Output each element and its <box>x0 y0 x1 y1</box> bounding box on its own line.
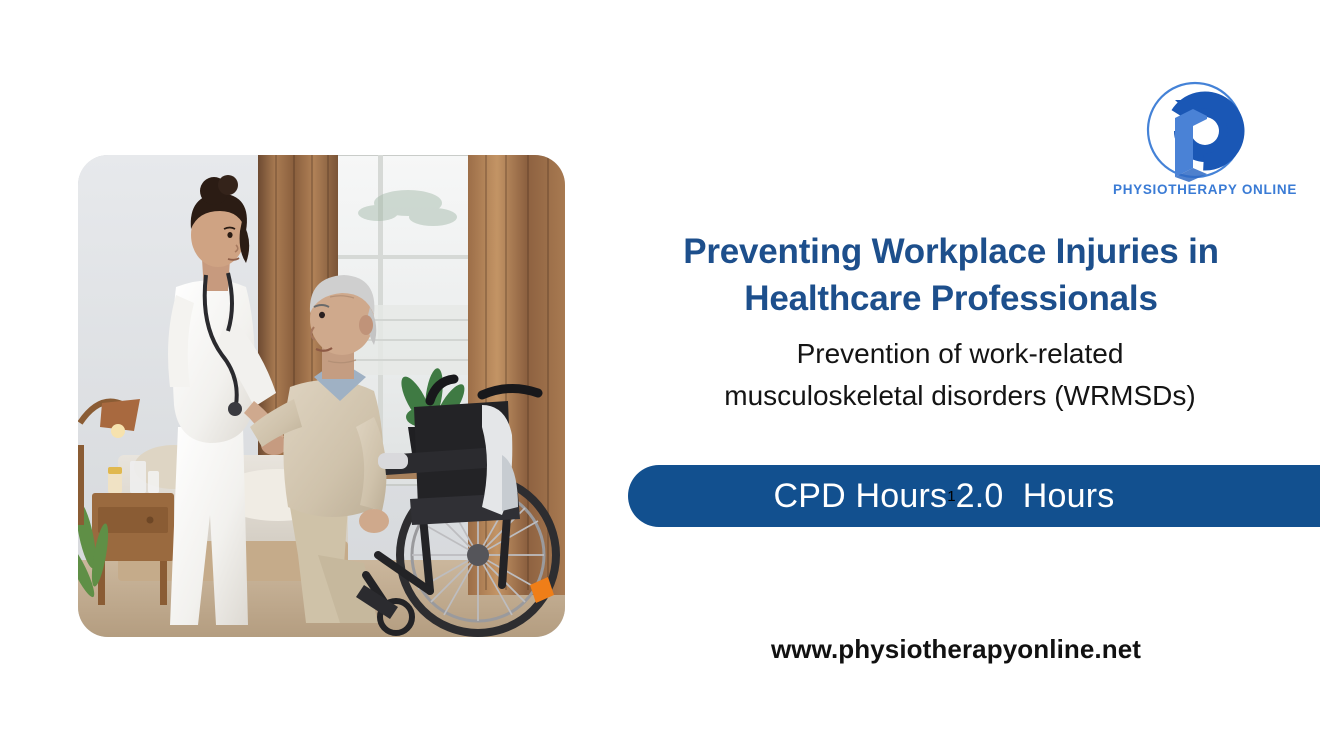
website-url[interactable]: www.physiotherapyonline.net <box>640 634 1272 665</box>
cpd-hours-banner: CPD Hours12.0 Hours <box>628 465 1320 527</box>
nurse-assisting-elderly-man-wheelchair-photo <box>78 155 565 637</box>
cpd-hours-spacer <box>1003 477 1022 516</box>
page-subtitle: Prevention of work-related musculoskelet… <box>640 333 1280 417</box>
promo-banner-canvas: PHYSIOTHERAPY ONLINE <box>0 0 1320 743</box>
brand-logo[interactable]: PHYSIOTHERAPY ONLINE <box>1113 78 1278 206</box>
cpd-footnote-marker: 1 <box>947 488 955 505</box>
page-title-line1: Preventing Workplace Injuries in <box>628 228 1274 275</box>
cpd-hours-unit: Hours <box>1023 477 1115 516</box>
page-title: Preventing Workplace Injuries in Healthc… <box>628 228 1274 322</box>
cpd-hours-value: 2.0 <box>956 477 1004 516</box>
page-title-line2: Healthcare Professionals <box>628 275 1274 322</box>
cpd-hours-label: CPD Hours <box>774 477 948 516</box>
brand-wordmark: PHYSIOTHERAPY ONLINE <box>1113 182 1278 197</box>
physiotherapy-p-logo-icon <box>1113 78 1278 182</box>
page-subtitle-line2: musculoskeletal disorders (WRMSDs) <box>640 375 1280 417</box>
page-subtitle-line1: Prevention of work-related <box>640 333 1280 375</box>
